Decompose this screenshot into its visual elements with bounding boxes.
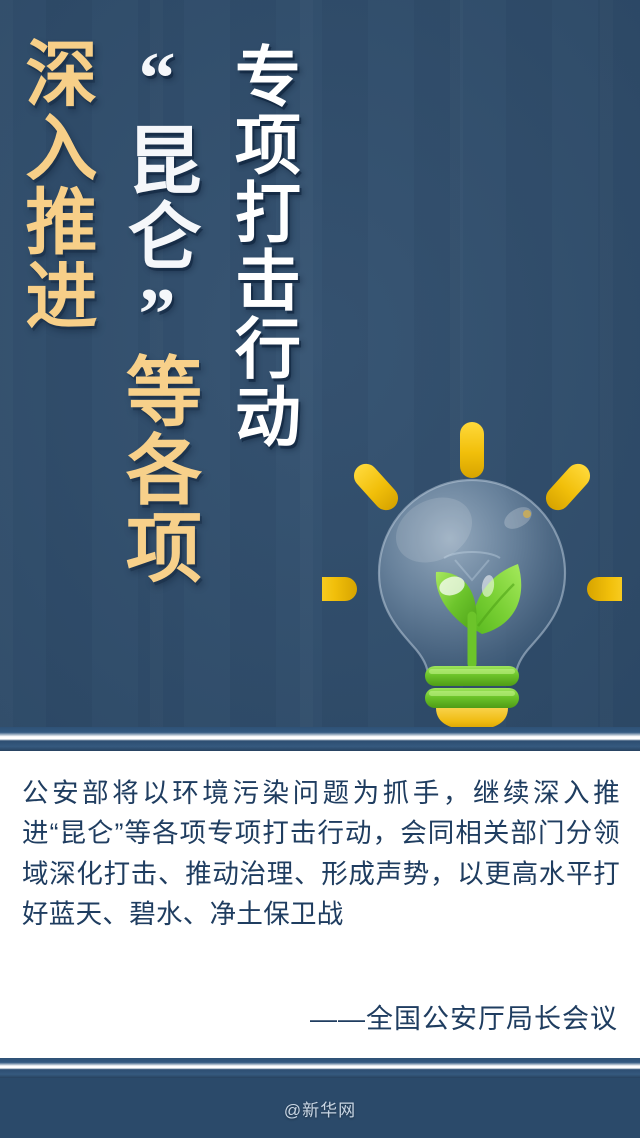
attribution-line: ——全国公安厅局长会议 (310, 997, 618, 1036)
body-paragraph: 公安部将以环境污染问题为抓手，继续深入推进“昆仑”等各项专项打击行动，会同相关部… (22, 773, 620, 934)
divider-top (0, 727, 640, 751)
title-column-middle-gold: 等各项 (118, 352, 194, 586)
bulb-base (425, 666, 519, 730)
eco-lightbulb-illustration (322, 418, 622, 730)
lightbulb-icon (322, 418, 622, 730)
title-column-right: 专项打击行动 (228, 42, 294, 450)
content-panel: 公安部将以环境污染问题为抓手，继续深入推进“昆仑”等各项专项打击行动，会同相关部… (0, 751, 640, 1058)
title-column-middle-quoted: “昆仑” (120, 38, 194, 358)
divider-bottom (0, 1058, 640, 1078)
title-column-left: 深入推进 (18, 36, 90, 332)
footer-bar: @新华网 (0, 1078, 640, 1138)
poster-root: 深入推进 “昆仑” 等各项 专项打击行动 (0, 0, 640, 1138)
source-watermark: @新华网 (284, 1096, 356, 1121)
